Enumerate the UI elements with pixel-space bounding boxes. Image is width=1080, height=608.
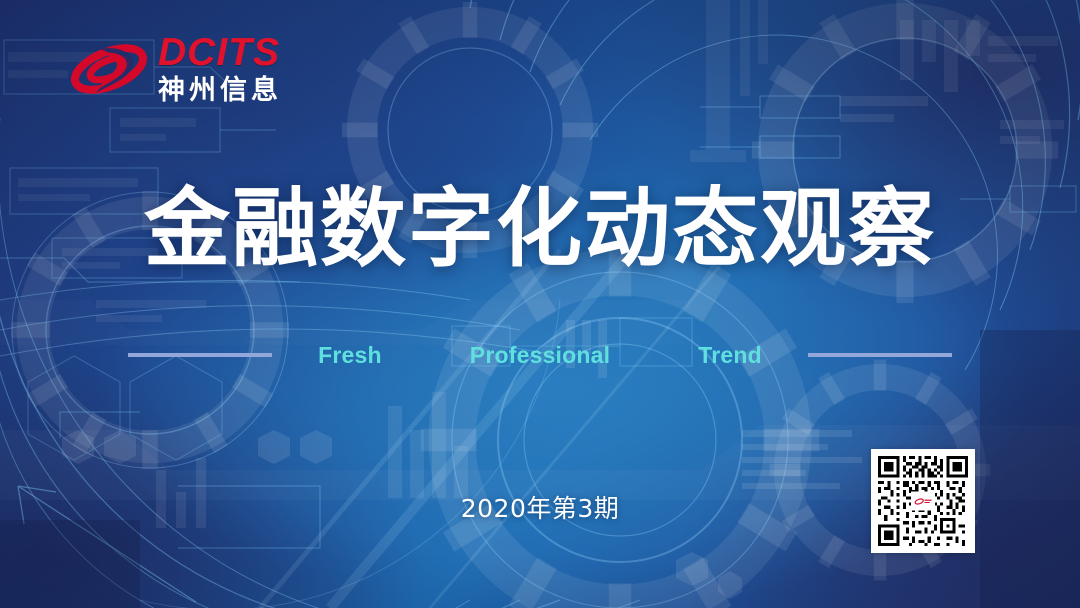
- keyword-professional: Professional: [470, 342, 610, 369]
- keyword-fresh: Fresh: [318, 342, 382, 369]
- logo-wordmark: DCITS 神州信息: [158, 33, 282, 104]
- logo-english-text: DCITS: [158, 33, 282, 72]
- logo-chinese-text: 神州信息: [158, 77, 282, 104]
- cover-slide: DCITS 神州信息 金融数字化动态观察 Fresh Professional …: [0, 0, 1080, 608]
- dcits-mini-mark: [914, 495, 933, 507]
- wechat-qr-code[interactable]: [871, 449, 975, 553]
- dcits-logo: DCITS 神州信息: [70, 33, 282, 104]
- divider-line-left: [128, 353, 272, 357]
- subtitle-keyword-row: Fresh Professional Trend: [0, 338, 1080, 372]
- divider-line-right: [808, 353, 952, 357]
- dcits-swoosh-mark: [70, 35, 148, 103]
- dcits-mini-logo: [911, 492, 935, 511]
- qr-modules: [878, 456, 968, 546]
- keyword-trend: Trend: [698, 342, 762, 369]
- page-title: 金融数字化动态观察: [0, 186, 1080, 272]
